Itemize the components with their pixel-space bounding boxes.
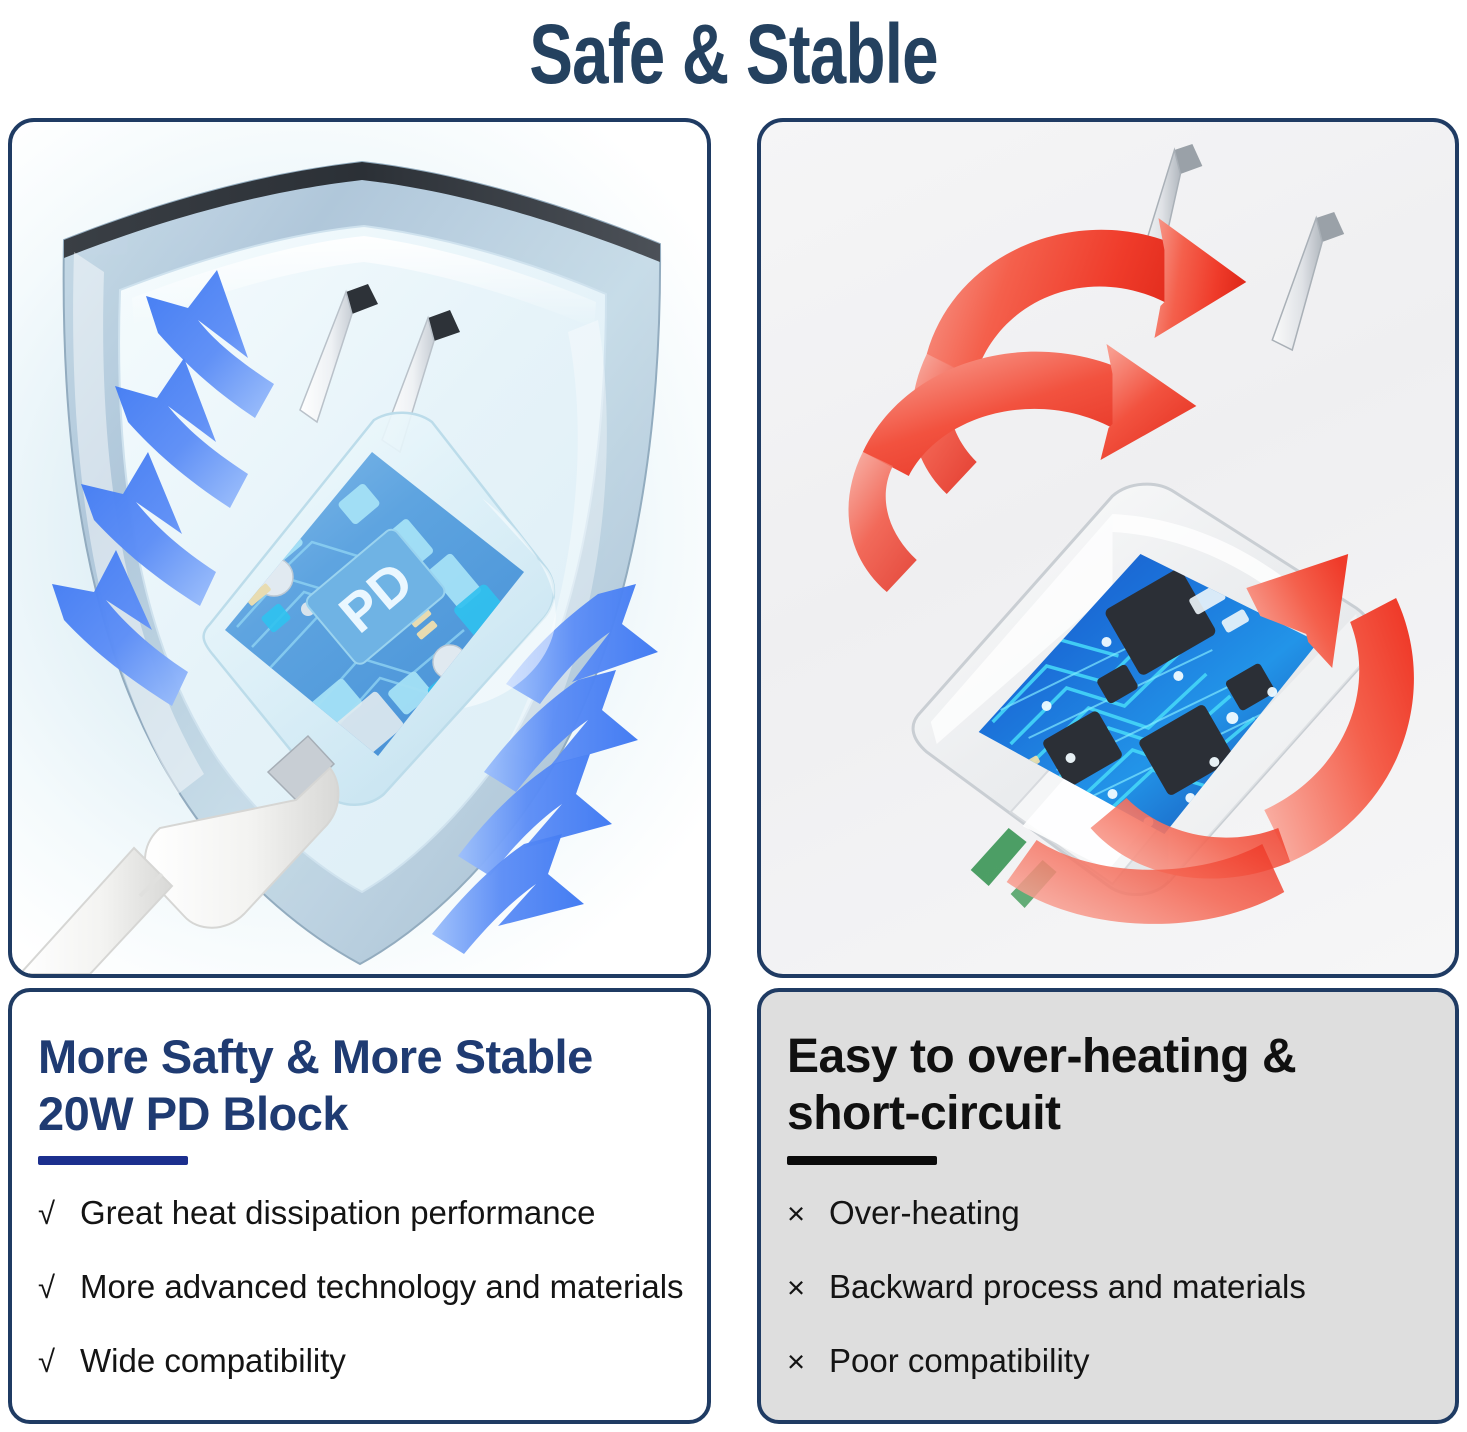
bad-media-box <box>757 118 1459 978</box>
good-heading-rule <box>38 1156 188 1165</box>
list-item-label: Backward process and materials <box>829 1267 1306 1307</box>
bad-text-box: Easy to over-heating & short-circuit × O… <box>757 988 1459 1424</box>
list-item: √ Wide compatibility <box>38 1341 681 1382</box>
shield-illustration: PD <box>12 122 707 974</box>
bad-bullet-list: × Over-heating × Backward process and ma… <box>787 1193 1429 1382</box>
cross-icon: × <box>787 1342 813 1382</box>
good-heading: More Safty & More Stable 20W PD Block <box>38 1028 681 1142</box>
good-media-box: PD <box>8 118 711 978</box>
bad-heading-rule <box>787 1156 937 1165</box>
arrow-swirl-icon <box>761 122 1455 974</box>
list-item-label: Poor compatibility <box>829 1341 1089 1381</box>
panel-bad: Easy to over-heating & short-circuit × O… <box>757 118 1459 1424</box>
panel-good: PD More Safty & More Stable 20W PD Block <box>8 118 711 1424</box>
check-icon: √ <box>38 1268 64 1308</box>
cross-icon: × <box>787 1194 813 1234</box>
list-item-label: Over-heating <box>829 1193 1020 1233</box>
check-icon: √ <box>38 1342 64 1382</box>
good-text-box: More Safty & More Stable 20W PD Block √ … <box>8 988 711 1424</box>
bad-heading: Easy to over-heating & short-circuit <box>787 1028 1429 1142</box>
check-icon: √ <box>38 1194 64 1234</box>
list-item-label: Wide compatibility <box>80 1341 346 1381</box>
good-bullet-list: √ Great heat dissipation performance √ M… <box>38 1193 681 1382</box>
list-item-label: Great heat dissipation performance <box>80 1193 595 1233</box>
comparison-columns: PD More Safty & More Stable 20W PD Block <box>8 118 1459 1424</box>
cross-icon: × <box>787 1268 813 1308</box>
list-item: √ Great heat dissipation performance <box>38 1193 681 1234</box>
page-title: Safe & Stable <box>161 6 1305 102</box>
list-item: × Backward process and materials <box>787 1267 1429 1308</box>
pd-charger-illustration: PD <box>12 122 707 974</box>
list-item: √ More advanced technology and materials <box>38 1267 681 1308</box>
overheating-illustration <box>761 122 1455 974</box>
list-item-label: More advanced technology and materials <box>80 1267 684 1307</box>
list-item: × Poor compatibility <box>787 1341 1429 1382</box>
list-item: × Over-heating <box>787 1193 1429 1234</box>
